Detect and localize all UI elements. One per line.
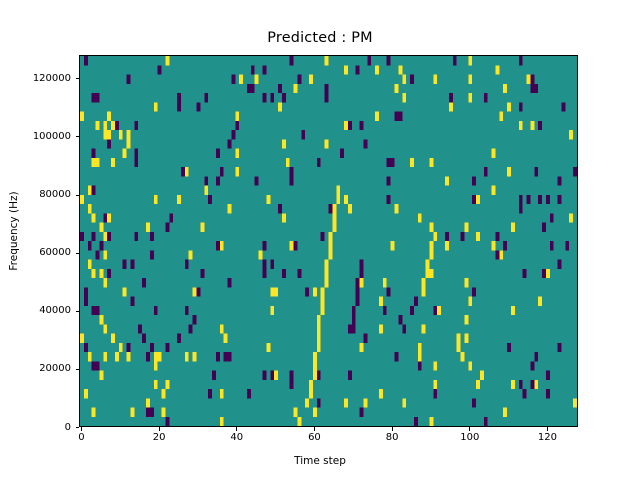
heatmap-raster: [80, 56, 577, 426]
x-tick-label: 80: [362, 432, 422, 443]
y-axis-title: Frequency (Hz): [8, 131, 20, 331]
x-tick-mark: [314, 427, 315, 431]
figure-canvas: Predicted : PM 020406080100120 020000400…: [0, 0, 640, 480]
x-tick-mark: [469, 427, 470, 431]
x-tick-mark: [392, 427, 393, 431]
heatmap-plot-area[interactable]: [79, 55, 578, 427]
x-tick-mark: [81, 427, 82, 431]
y-tick-label: 120000: [7, 73, 71, 84]
x-axis-title: Time step: [0, 455, 640, 467]
chart-title: Predicted : PM: [0, 30, 640, 46]
y-tick-label: 0: [7, 422, 71, 433]
x-tick-mark: [236, 427, 237, 431]
x-tick-label: 20: [129, 432, 189, 443]
x-tick-label: 40: [207, 432, 267, 443]
x-tick-label: 60: [284, 432, 344, 443]
x-tick-label: 100: [440, 432, 500, 443]
y-tick-mark: [76, 311, 80, 312]
x-tick-mark: [547, 427, 548, 431]
x-tick-label: 0: [51, 432, 111, 443]
y-tick-mark: [76, 369, 80, 370]
x-tick-label: 120: [517, 432, 577, 443]
y-tick-mark: [76, 427, 80, 428]
y-tick-mark: [76, 136, 80, 137]
y-tick-mark: [76, 195, 80, 196]
x-tick-mark: [159, 427, 160, 431]
y-tick-mark: [76, 253, 80, 254]
y-tick-mark: [76, 78, 80, 79]
y-tick-label: 20000: [7, 363, 71, 374]
heatmap-grid: [80, 56, 577, 426]
